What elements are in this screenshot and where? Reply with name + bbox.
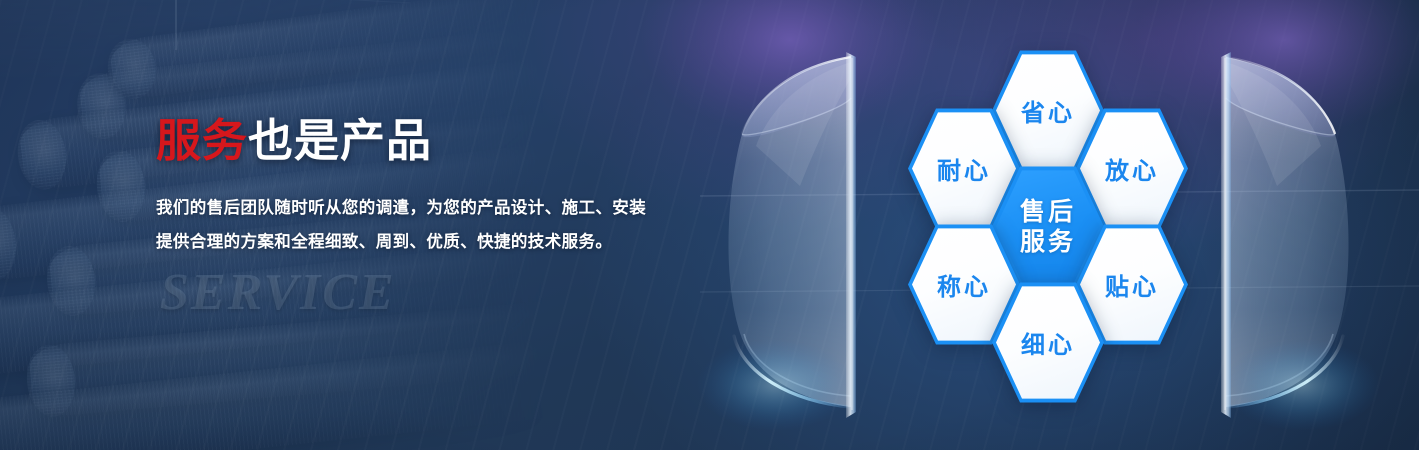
- hex-label: 细心: [1021, 325, 1075, 360]
- hex-bottom[interactable]: 细心: [992, 280, 1104, 405]
- subtitle-line-1: 我们的售后团队随时听从您的调遣，为您的产品设计、施工、安装: [156, 191, 756, 225]
- subtitle-line-2: 提供合理的方案和全程细致、周到、优质、快捷的技术服务。: [156, 225, 756, 259]
- service-watermark: SERVICE: [160, 263, 396, 322]
- copy-block: 服务也是产品 我们的售后团队随时听从您的调遣，为您的产品设计、施工、安装 提供合…: [156, 118, 756, 259]
- subtitle-block: 我们的售后团队随时听从您的调遣，为您的产品设计、施工、安装 提供合理的方案和全程…: [156, 191, 756, 259]
- hex-label: 省心: [1021, 93, 1075, 128]
- hexagon-cluster: 省心 耐心 放心 售后服务 称心 贴心: [880, 48, 1220, 406]
- headline-rest: 也是产品: [248, 115, 432, 166]
- hex-center-line-2: 服务: [1020, 228, 1076, 256]
- service-banner: 服务也是产品 我们的售后团队随时听从您的调遣，为您的产品设计、施工、安装 提供合…: [0, 0, 1419, 450]
- hex-center-line-1: 售后: [1020, 198, 1076, 226]
- headline-emphasis: 服务: [156, 115, 248, 166]
- page-title: 服务也是产品: [156, 118, 756, 163]
- hex-label: 贴心: [1105, 267, 1159, 302]
- hex-label: 耐心: [937, 151, 991, 186]
- hex-label: 称心: [937, 267, 991, 302]
- hex-center-label: 售后服务: [1020, 197, 1076, 257]
- hex-label: 放心: [1105, 151, 1159, 186]
